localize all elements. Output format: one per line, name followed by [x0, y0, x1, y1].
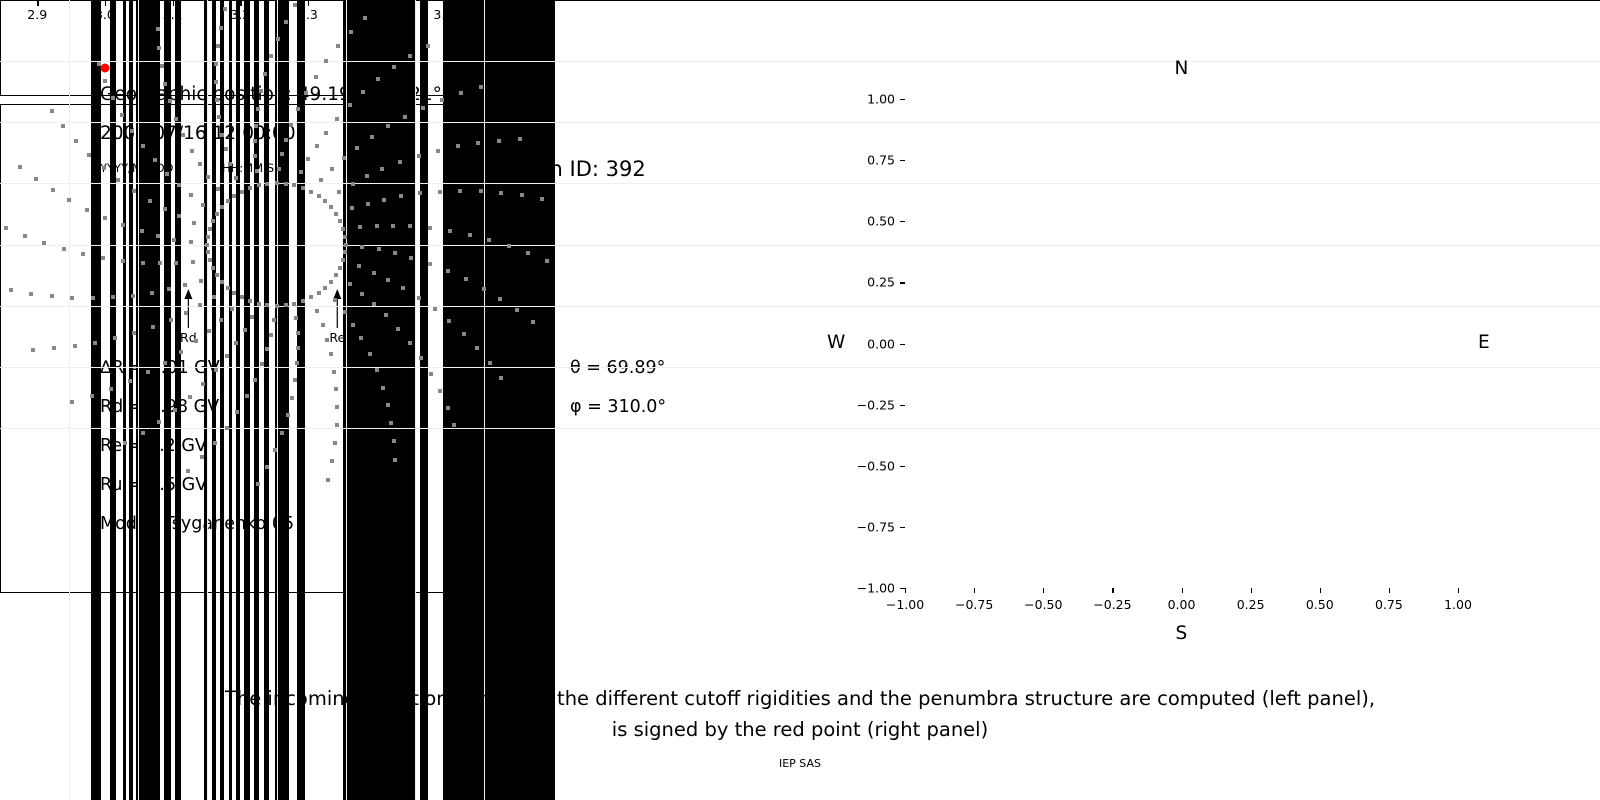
- scatter-point: [323, 286, 327, 290]
- plot-ytick: [900, 405, 905, 406]
- scatter-point: [85, 208, 89, 212]
- scatter-point: [286, 413, 290, 417]
- scatter-point: [319, 178, 323, 182]
- scatter-point: [50, 294, 54, 298]
- scatter-point: [232, 194, 236, 198]
- scatter-point: [216, 187, 220, 191]
- scatter-point: [315, 144, 319, 148]
- scatter-point: [248, 186, 252, 190]
- scatter-point: [343, 310, 347, 314]
- scatter-point: [317, 291, 321, 295]
- scatter-point: [309, 295, 313, 299]
- scatter-point: [207, 329, 211, 333]
- scatter-point: [177, 183, 181, 187]
- compass-label-west: W: [827, 332, 845, 353]
- scatter-point: [174, 261, 178, 265]
- plot-xtick: [1458, 588, 1459, 593]
- scatter-point: [292, 302, 296, 306]
- scatter-point: [335, 423, 339, 427]
- plot-ytick-label: −0.75: [843, 519, 895, 534]
- scatter-point: [199, 279, 203, 283]
- scatter-point: [294, 316, 298, 320]
- scatter-point: [399, 194, 403, 198]
- scatter-point: [120, 113, 124, 117]
- penumbra-band: [443, 0, 555, 96]
- scatter-point: [335, 117, 339, 121]
- scatter-point: [265, 347, 269, 351]
- param-model: Model: Tsyganenko 05: [100, 514, 294, 534]
- scatter-point: [255, 169, 259, 173]
- gridline-vertical: [346, 104, 347, 593]
- scatter-point: [408, 341, 412, 345]
- axis-tick-label: 3.4: [366, 7, 386, 22]
- scatter-point: [260, 362, 264, 366]
- scatter-point: [219, 318, 223, 322]
- plot-ytick: [900, 160, 905, 161]
- scatter-point: [243, 328, 247, 332]
- scatter-point: [462, 332, 466, 336]
- rigidity-arrow-Re: [333, 289, 341, 328]
- scatter-point: [208, 227, 212, 231]
- compass-label-south: S: [1176, 623, 1188, 644]
- scatter-point: [179, 350, 183, 354]
- scatter-point: [401, 286, 405, 290]
- scatter-point: [446, 406, 450, 410]
- scatter-point: [224, 147, 228, 151]
- scatter-point: [476, 141, 480, 145]
- scatter-point: [317, 194, 321, 198]
- scatter-point: [173, 408, 177, 412]
- scatter-point: [428, 226, 432, 230]
- plot-xtick-label: −0.25: [1093, 597, 1131, 612]
- scatter-point: [93, 341, 97, 345]
- scatter-point: [436, 149, 440, 153]
- scatter-point: [338, 266, 342, 270]
- scatter-point: [109, 387, 113, 391]
- scatter-point: [240, 190, 244, 194]
- scatter-point: [245, 394, 249, 398]
- scatter-point: [226, 286, 230, 290]
- axis-tick-label: 2.9: [27, 7, 47, 22]
- scatter-point: [151, 325, 155, 329]
- scatter-point: [111, 295, 115, 299]
- scatter-point: [150, 291, 154, 295]
- gridline-vertical: [415, 104, 416, 593]
- scatter-point: [375, 368, 379, 372]
- scatter-point: [329, 352, 333, 356]
- plot-ytick: [900, 466, 905, 467]
- scatter-point: [225, 354, 229, 358]
- scatter-point: [515, 308, 519, 312]
- scatter-point: [384, 313, 388, 317]
- scatter-point: [280, 431, 284, 435]
- plot-xtick: [1389, 588, 1390, 593]
- scatter-point: [18, 165, 22, 169]
- scatter-point: [90, 394, 94, 398]
- scatter-point: [375, 224, 379, 228]
- scatter-point: [273, 448, 277, 452]
- scatter-point: [499, 191, 503, 195]
- compass-label-north: N: [1175, 58, 1189, 79]
- scatter-point: [351, 323, 355, 327]
- scatter-point: [479, 189, 483, 193]
- scatter-point: [392, 439, 396, 443]
- plot-xtick: [974, 588, 975, 593]
- gridline-horizontal: [0, 245, 553, 246]
- scatter-point: [344, 243, 348, 247]
- scatter-point: [191, 260, 195, 264]
- scatter-point: [540, 197, 544, 201]
- scatter-point: [128, 379, 132, 383]
- scatter-point: [188, 395, 192, 399]
- rigidity-label-Re: Re: [329, 330, 345, 345]
- scatter-point: [67, 198, 71, 202]
- scatter-point: [428, 262, 432, 266]
- plot-ytick-label: 0.00: [843, 336, 895, 351]
- scatter-point: [355, 146, 359, 150]
- plot-xtick-label: 0.25: [1237, 597, 1265, 612]
- plot-ytick-label: −0.25: [843, 397, 895, 412]
- scatter-point: [52, 346, 56, 350]
- scatter-point: [366, 202, 370, 206]
- scatter-point: [309, 190, 313, 194]
- penumbra-band: [254, 0, 259, 96]
- plot-ytick: [900, 99, 905, 100]
- scatter-point: [351, 182, 355, 186]
- scatter-point: [299, 170, 303, 174]
- scatter-point: [198, 303, 202, 307]
- scatter-point: [265, 182, 269, 186]
- plot-xtick: [1112, 588, 1113, 593]
- scatter-point: [386, 403, 390, 407]
- plot-xtick: [1182, 588, 1183, 593]
- axis-tick: [173, 0, 174, 6]
- scatter-point: [34, 177, 38, 181]
- scatter-point: [146, 370, 150, 374]
- scatter-point: [386, 124, 390, 128]
- penumbra-band: [264, 0, 269, 96]
- scatter-point: [284, 182, 288, 186]
- scatter-point: [73, 344, 77, 348]
- scatter-point: [163, 207, 167, 211]
- rigidity-arrow-Ru: [536, 289, 544, 328]
- scatter-point: [123, 441, 127, 445]
- plot-ytick: [900, 282, 905, 283]
- scatter-point: [253, 378, 257, 382]
- scatter-point: [165, 172, 169, 176]
- scatter-point: [329, 280, 333, 284]
- scatter-point: [131, 294, 135, 298]
- scatter-point: [350, 206, 354, 210]
- scatter-point: [358, 225, 362, 229]
- scatter-point: [23, 234, 27, 238]
- scatter-point: [357, 264, 361, 268]
- axis-tick-label: 3.5: [433, 7, 453, 22]
- rigidity-arrow-Rd: [184, 289, 192, 328]
- plot-ytick-label: 0.50: [843, 214, 895, 229]
- scatter-point: [348, 104, 352, 107]
- scatter-point: [42, 241, 46, 245]
- axis-tick-label: 3.2: [230, 7, 250, 22]
- scatter-point: [248, 299, 252, 303]
- plot-xtick-label: −1.00: [886, 597, 924, 612]
- rigidity-arrow-group: [77, 288, 672, 330]
- scatter-point: [321, 323, 325, 327]
- scatter-point: [341, 227, 345, 231]
- scatter-point: [215, 273, 219, 277]
- gridline-horizontal: [0, 428, 553, 429]
- scatter-point: [391, 224, 395, 228]
- plot-xtick-label: 0.50: [1306, 597, 1334, 612]
- scatter-point: [456, 144, 460, 148]
- scatter-point: [156, 234, 160, 238]
- scatter-point: [284, 138, 288, 142]
- plot-ytick: [900, 527, 905, 528]
- param-ru: Ru = 3.5 GV: [100, 475, 207, 495]
- scatter-point: [289, 123, 293, 127]
- scatter-point: [293, 378, 297, 382]
- plot-xtick-label: 0.75: [1375, 597, 1403, 612]
- scatter-point: [438, 190, 442, 194]
- scatter-point: [225, 426, 229, 430]
- scatter-point: [417, 154, 421, 158]
- footer-credit: IEP SAS: [0, 757, 1600, 770]
- scatter-point: [458, 189, 462, 193]
- scatter-point: [372, 302, 376, 306]
- penumbra-band: [129, 0, 132, 96]
- penumbra-band: [420, 0, 428, 96]
- scatter-point: [334, 212, 338, 216]
- scatter-point: [201, 382, 205, 386]
- scatter-point: [103, 216, 107, 220]
- scatter-point: [292, 183, 296, 187]
- plot-ytick-label: 0.25: [843, 275, 895, 290]
- scatter-point: [190, 149, 194, 153]
- scatter-point: [177, 214, 181, 218]
- scatter-point: [158, 261, 162, 265]
- scatter-point: [208, 258, 212, 262]
- scatter-point: [403, 115, 407, 119]
- scatter-point: [499, 376, 503, 380]
- scatter-point: [295, 361, 299, 365]
- scatter-point: [301, 299, 305, 303]
- scatter-point: [206, 250, 210, 254]
- plot-xtick-label: 1.00: [1444, 597, 1472, 612]
- scatter-point: [348, 282, 352, 286]
- scatter-point: [323, 199, 327, 203]
- scatter-point: [205, 243, 209, 247]
- scatter-point: [102, 166, 106, 170]
- axis-tick-label: 3.3: [298, 7, 318, 22]
- plot-ytick: [900, 344, 905, 345]
- scatter-point: [206, 175, 210, 179]
- scatter-point: [296, 331, 300, 335]
- scatter-point: [409, 256, 413, 260]
- scatter-point: [334, 273, 338, 277]
- scatter-point: [324, 131, 328, 135]
- penumbra-band: [123, 0, 126, 96]
- scatter-point: [330, 167, 334, 171]
- scatter-point: [74, 139, 78, 143]
- axis-tick: [511, 0, 512, 6]
- plot-ytick-label: 1.00: [843, 92, 895, 107]
- scatter-point: [254, 124, 258, 128]
- scatter-point: [81, 252, 85, 256]
- scatter-point: [368, 352, 372, 356]
- scatter-point: [70, 400, 74, 404]
- scatter-point: [421, 106, 425, 110]
- scatter-point: [215, 212, 219, 216]
- scatter-point: [275, 181, 279, 185]
- plot-xtick-label: 0.00: [1168, 597, 1196, 612]
- scatter-point: [370, 135, 374, 139]
- scatter-point: [487, 238, 491, 242]
- scatter-point: [91, 296, 95, 300]
- scatter-point: [381, 386, 385, 390]
- scatter-point: [257, 302, 261, 306]
- scatter-point: [433, 307, 437, 311]
- compass-label-east: E: [1478, 332, 1490, 353]
- scatter-point: [337, 190, 341, 194]
- axis-tick: [376, 0, 377, 6]
- scatter-point: [220, 205, 224, 209]
- scatter-point: [398, 160, 402, 164]
- scatter-point: [408, 224, 412, 228]
- scatter-point: [468, 233, 472, 237]
- scatter-point: [380, 167, 384, 171]
- caption-line-2: is signed by the red point (right panel): [0, 718, 1600, 741]
- scatter-point: [234, 176, 238, 180]
- scatter-point: [447, 319, 451, 323]
- penumbra-bar-chart: [0, 0, 555, 96]
- scatter-point: [518, 137, 522, 141]
- scatter-point: [61, 124, 65, 128]
- scatter-point: [265, 465, 269, 469]
- scatter-point: [382, 198, 386, 202]
- scatter-point: [419, 356, 423, 360]
- scatter-point: [29, 292, 33, 296]
- scatter-point: [62, 247, 66, 251]
- gridline-vertical: [277, 104, 278, 593]
- scatter-point: [452, 423, 456, 427]
- scatter-point: [169, 318, 173, 322]
- scatter-point: [167, 287, 171, 291]
- scatter-point: [9, 288, 13, 292]
- scatter-point: [189, 240, 193, 244]
- axis-tick: [443, 0, 444, 6]
- scatter-point: [116, 178, 120, 182]
- scatter-point: [235, 410, 239, 414]
- scatter-point: [211, 219, 215, 223]
- axis-tick: [37, 0, 38, 6]
- scatter-point: [372, 271, 376, 275]
- scatter-point: [269, 333, 273, 337]
- scatter-point: [230, 307, 234, 311]
- plot-ytick-label: −1.00: [843, 581, 895, 596]
- scatter-point: [497, 139, 501, 143]
- scatter-point: [31, 348, 35, 352]
- scatter-point: [141, 431, 145, 435]
- plot-xtick: [905, 588, 906, 593]
- scatter-point: [275, 304, 279, 308]
- scatter-point: [417, 296, 421, 300]
- scatter-point: [220, 280, 224, 284]
- plot-xtick-label: −0.50: [1024, 597, 1062, 612]
- scatter-point: [186, 469, 190, 473]
- scatter-point: [87, 153, 91, 157]
- scatter-point: [51, 188, 55, 192]
- scatter-point: [531, 320, 535, 324]
- scatter-point: [132, 331, 136, 335]
- scatter-point: [4, 226, 8, 230]
- scatter-point: [301, 186, 305, 190]
- axis-tick-label: 3.0: [95, 7, 115, 22]
- scatter-point: [329, 205, 333, 209]
- scatter-point: [253, 139, 257, 143]
- scatter-point: [315, 309, 319, 313]
- scatter-point: [189, 193, 193, 197]
- scatter-point: [393, 458, 397, 462]
- scatter-point: [330, 459, 334, 463]
- scatter-point: [192, 221, 196, 225]
- scatter-point: [148, 199, 152, 203]
- scatter-point: [214, 368, 218, 372]
- scatter-point: [141, 144, 145, 148]
- scatter-point: [359, 336, 363, 340]
- plot-xtick: [1320, 588, 1321, 593]
- scatter-point: [335, 405, 339, 409]
- scatter-point: [507, 244, 511, 248]
- scatter-point: [446, 269, 450, 273]
- scatter-point: [393, 251, 397, 255]
- scatter-point: [211, 266, 215, 270]
- scatter-point: [418, 191, 422, 195]
- scatter-point: [488, 361, 492, 365]
- scatter-point: [343, 250, 347, 254]
- scatter-point: [240, 295, 244, 299]
- scatter-point: [338, 219, 342, 223]
- scatter-point: [341, 258, 345, 262]
- scatter-point: [296, 346, 300, 350]
- gridline-horizontal: [0, 122, 553, 123]
- scatter-point: [545, 259, 549, 263]
- param-phi: φ = 310.0°: [570, 397, 666, 417]
- scatter-point: [256, 107, 260, 111]
- scatter-point: [272, 318, 276, 322]
- scatter-point: [306, 157, 310, 161]
- scatter-point: [181, 133, 185, 137]
- scatter-point: [232, 291, 236, 295]
- scatter-point: [265, 303, 269, 307]
- scatter-point: [277, 167, 281, 171]
- axis-tick-label: 3.6: [501, 7, 521, 22]
- rigidity-label-Ru: Ru: [532, 330, 548, 345]
- scatter-point: [332, 370, 336, 374]
- scatter-point: [153, 158, 157, 162]
- scatter-point: [475, 346, 479, 350]
- axis-tick: [308, 0, 309, 6]
- plot-ytick: [900, 221, 905, 222]
- scatter-point: [377, 247, 381, 251]
- gridline-vertical: [69, 104, 70, 593]
- axis-tick: [105, 0, 106, 6]
- scatter-point: [325, 338, 329, 342]
- scatter-point: [130, 129, 134, 133]
- scatter-point: [334, 387, 338, 391]
- scatter-point: [50, 109, 54, 113]
- scatter-point: [200, 455, 204, 459]
- scatter-point: [172, 238, 176, 242]
